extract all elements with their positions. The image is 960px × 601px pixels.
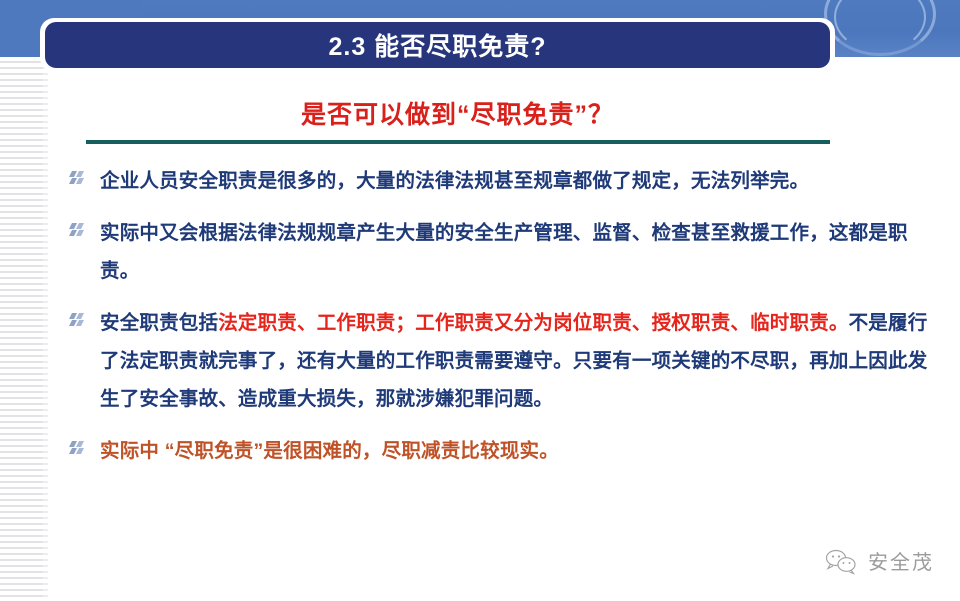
watermark: 安全茂 [824, 546, 934, 575]
page-title: 2.3 能否尽职免责? [329, 27, 547, 63]
left-stripe-decoration [0, 57, 43, 601]
left-stripe-decoration-secondary [43, 57, 48, 601]
title-plate: 2.3 能否尽职免责? [45, 22, 830, 68]
diamond-bullet-icon [68, 311, 90, 339]
text-segment-emphasis-red: 法定职责、工作职责；工作职责又分为岗位职责、授权职责、临时职责。 [218, 312, 848, 334]
list-item: 企业人员安全职责是很多的，大量的法律法规甚至规章都做了规定，无法列举完。 [68, 162, 928, 200]
list-item-text: 企业人员安全职责是很多的，大量的法律法规甚至规章都做了规定，无法列举完。 [100, 162, 928, 200]
watermark-label: 安全茂 [868, 546, 934, 575]
wechat-icon [824, 547, 858, 575]
list-item-text: 实际中 “尽职免责”是很困难的，尽职减责比较现实。 [100, 432, 928, 470]
bullet-list: 企业人员安全职责是很多的，大量的法律法规甚至规章都做了规定，无法列举完。 实际中… [68, 162, 928, 484]
diamond-bullet-icon [68, 169, 90, 197]
list-item: 实际中 “尽职免责”是很困难的，尽职减责比较现实。 [68, 432, 928, 470]
list-item-text: 实际中又会根据法律法规规章产生大量的安全生产管理、监督、检查甚至救援工作，这都是… [100, 214, 928, 290]
text-segment-plain: 安全职责包括 [100, 312, 218, 334]
diamond-bullet-icon [68, 439, 90, 467]
list-item: 实际中又会根据法律法规规章产生大量的安全生产管理、监督、检查甚至救援工作，这都是… [68, 214, 928, 290]
subtitle: 是否可以做到“尽职免责”？ [85, 95, 830, 131]
list-item-text: 安全职责包括法定职责、工作职责；工作职责又分为岗位职责、授权职责、临时职责。不是… [100, 304, 928, 418]
diamond-bullet-icon [68, 221, 90, 249]
slide-canvas: 2.3 能否尽职免责? 是否可以做到“尽职免责”？ 企业人员安全职责是很多的，大… [0, 0, 960, 601]
divider-rule [86, 140, 830, 144]
list-item: 安全职责包括法定职责、工作职责；工作职责又分为岗位职责、授权职责、临时职责。不是… [68, 304, 928, 418]
